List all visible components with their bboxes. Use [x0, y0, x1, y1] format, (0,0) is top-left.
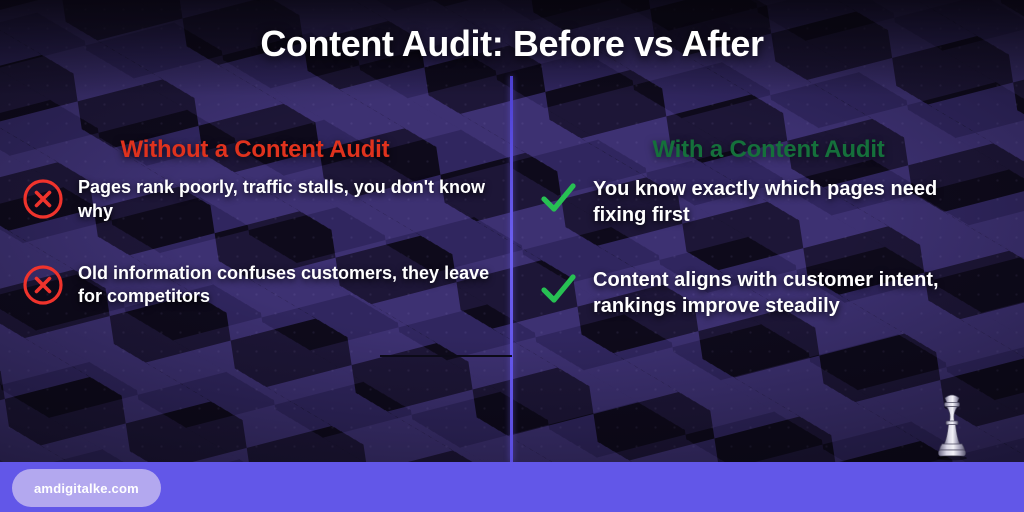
list-item-label: You know exactly which pages need fixing…	[593, 176, 982, 229]
chess-queen-icon	[932, 390, 972, 462]
x-circle-icon	[22, 264, 64, 306]
list-item-label: Old information confuses customers, they…	[78, 262, 496, 310]
check-icon	[537, 269, 579, 311]
column-without-audit: Without a Content Audit Pages rank poorl…	[0, 0, 510, 462]
brand-label: amdigitalke.com	[34, 481, 139, 496]
infographic-canvas: Content Audit: Before vs After Without a…	[0, 0, 1024, 512]
column-heading-with-audit: With a Content Audit	[513, 136, 1024, 164]
list-item: Old information confuses customers, they…	[0, 262, 510, 310]
list-item: Pages rank poorly, traffic stalls, you d…	[0, 176, 510, 224]
brand-pill[interactable]: amdigitalke.com	[12, 469, 161, 507]
list-without-audit: Pages rank poorly, traffic stalls, you d…	[0, 176, 510, 347]
list-item-label: Content aligns with customer intent, ran…	[593, 267, 982, 320]
list-item: Content aligns with customer intent, ran…	[513, 267, 1024, 320]
column-heading-without-audit: Without a Content Audit	[0, 136, 510, 164]
x-circle-icon	[22, 178, 64, 220]
list-item-label: Pages rank poorly, traffic stalls, you d…	[78, 176, 496, 224]
list-item: You know exactly which pages need fixing…	[513, 176, 1024, 229]
check-icon	[537, 178, 579, 220]
list-with-audit: You know exactly which pages need fixing…	[513, 176, 1024, 358]
